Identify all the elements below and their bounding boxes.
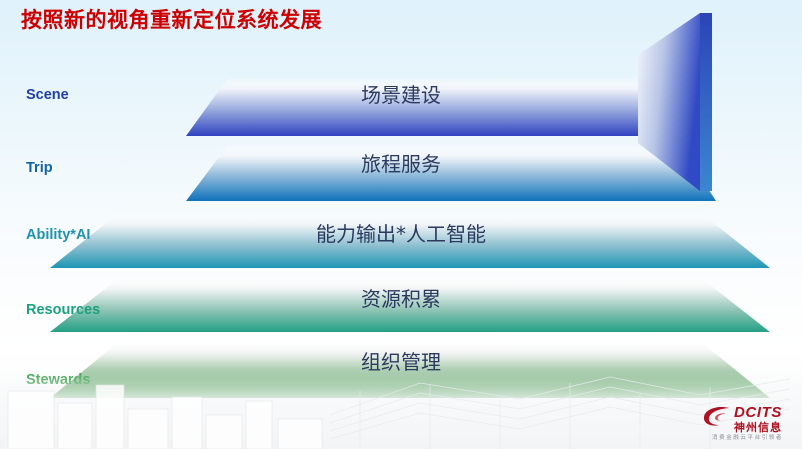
side-label-ability-ai: Ability*AI xyxy=(26,227,90,243)
pyramid-label-ability-ai: 能力输出*人工智能 xyxy=(0,218,802,247)
dcits-logo: DCITS 神州信息 消费金融云平台引领者 xyxy=(700,404,792,444)
pyramid-label-resources: 资源积累 xyxy=(0,283,802,312)
dcits-swoosh-icon xyxy=(702,406,732,428)
side-label-resources: Resources xyxy=(26,302,100,318)
pyramid-label-trip: 旅程服务 xyxy=(0,148,802,177)
side-label-trip: Trip xyxy=(26,160,53,176)
slide-canvas: 按照新的视角重新定位系统发展 xyxy=(0,0,802,449)
pyramid-label-scene: 场景建设 xyxy=(0,79,802,108)
logo-tagline: 消费金融云平台引领者 xyxy=(712,433,783,441)
side-label-scene: Scene xyxy=(26,87,69,103)
side-label-stewards: Stewards xyxy=(26,372,90,388)
pyramid-label-stewards: 组织管理 xyxy=(0,346,802,375)
